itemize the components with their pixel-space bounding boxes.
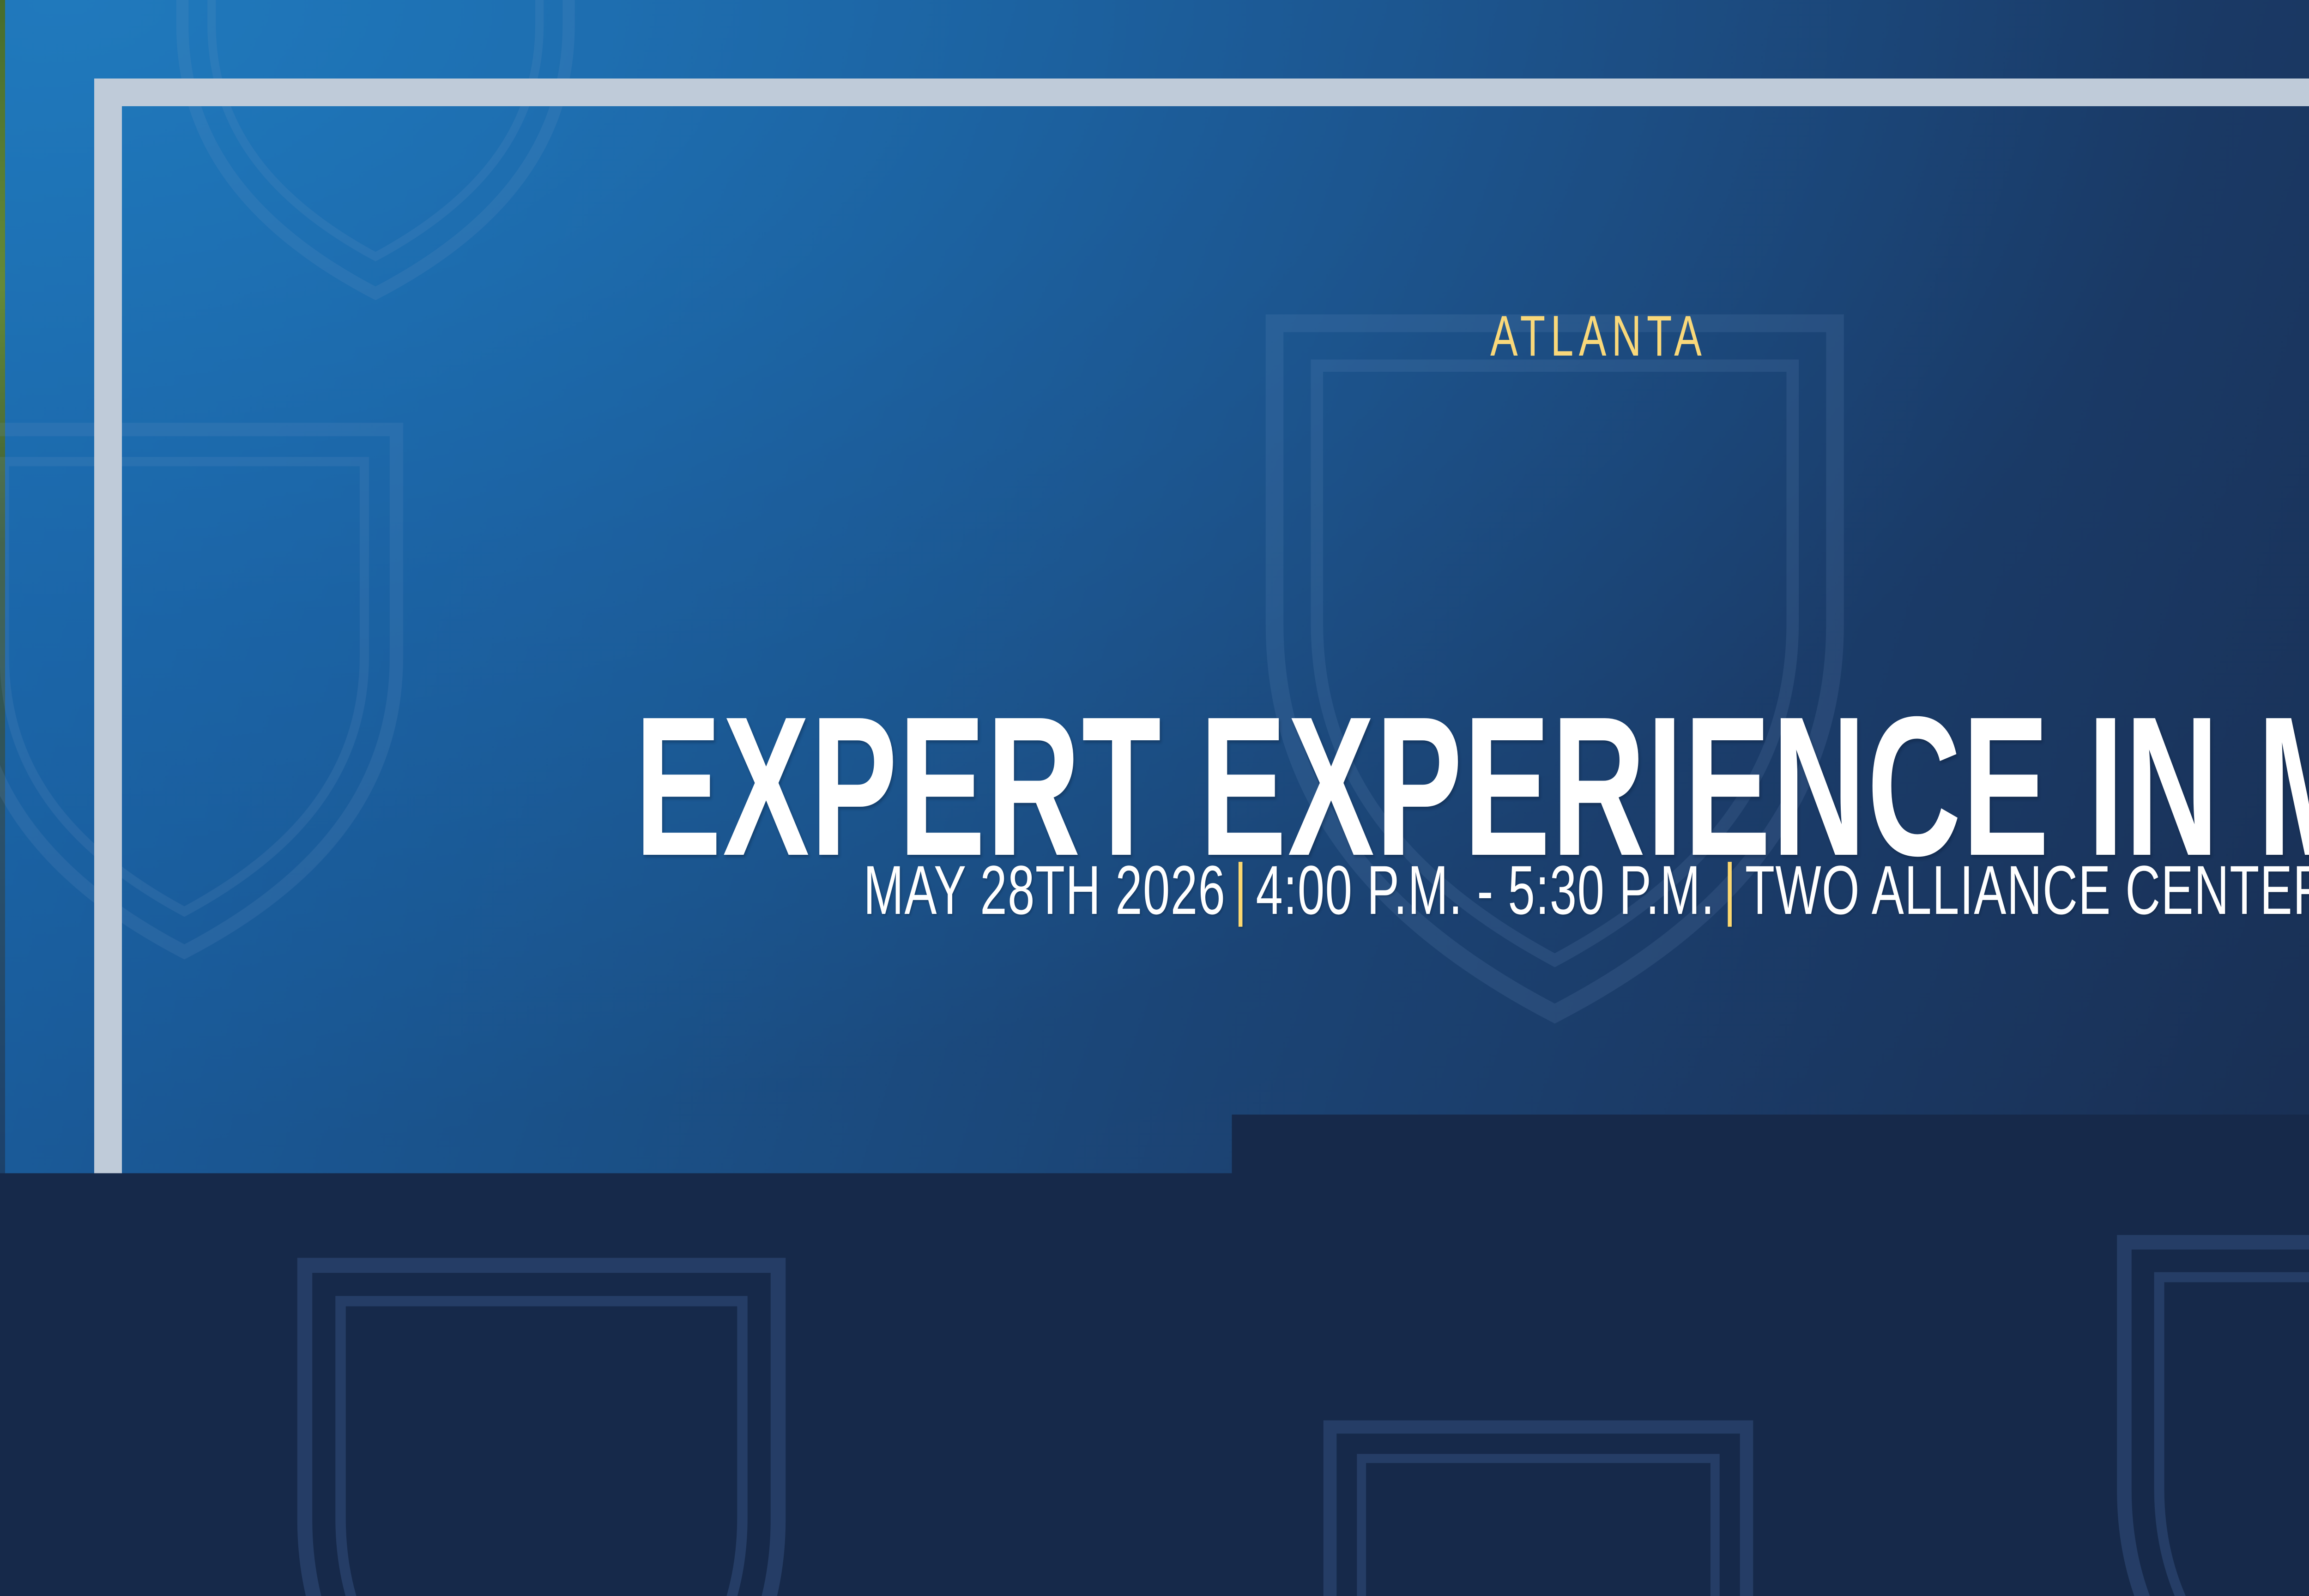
register-cta-group: REGISTER NOW [1131, 1160, 2069, 1345]
city-eyebrow: ATLANTA [447, 308, 2309, 365]
event-date: MAY 28TH 2026 [864, 851, 1226, 929]
event-venue: TWO ALLIANCE CENTER [1745, 851, 2309, 929]
register-now-button[interactable]: REGISTER NOW [1131, 1160, 2069, 1345]
banner-content: ATLANTA EXPERT EXPERIENCE IN M&A MAY 28T… [0, 0, 2309, 1596]
register-now-label: REGISTER NOW [1413, 1215, 1788, 1289]
event-promo-banner: ATLANTA EXPERT EXPERIENCE IN M&A MAY 28T… [0, 0, 2309, 1596]
event-details-line: MAY 28TH 2026|4:00 P.M. - 5:30 P.M.|TWO … [479, 855, 2309, 925]
detail-separator-1: | [1226, 849, 1256, 927]
detail-separator-2: | [1715, 849, 1745, 927]
event-time: 4:00 P.M. - 5:30 P.M. [1256, 851, 1715, 929]
